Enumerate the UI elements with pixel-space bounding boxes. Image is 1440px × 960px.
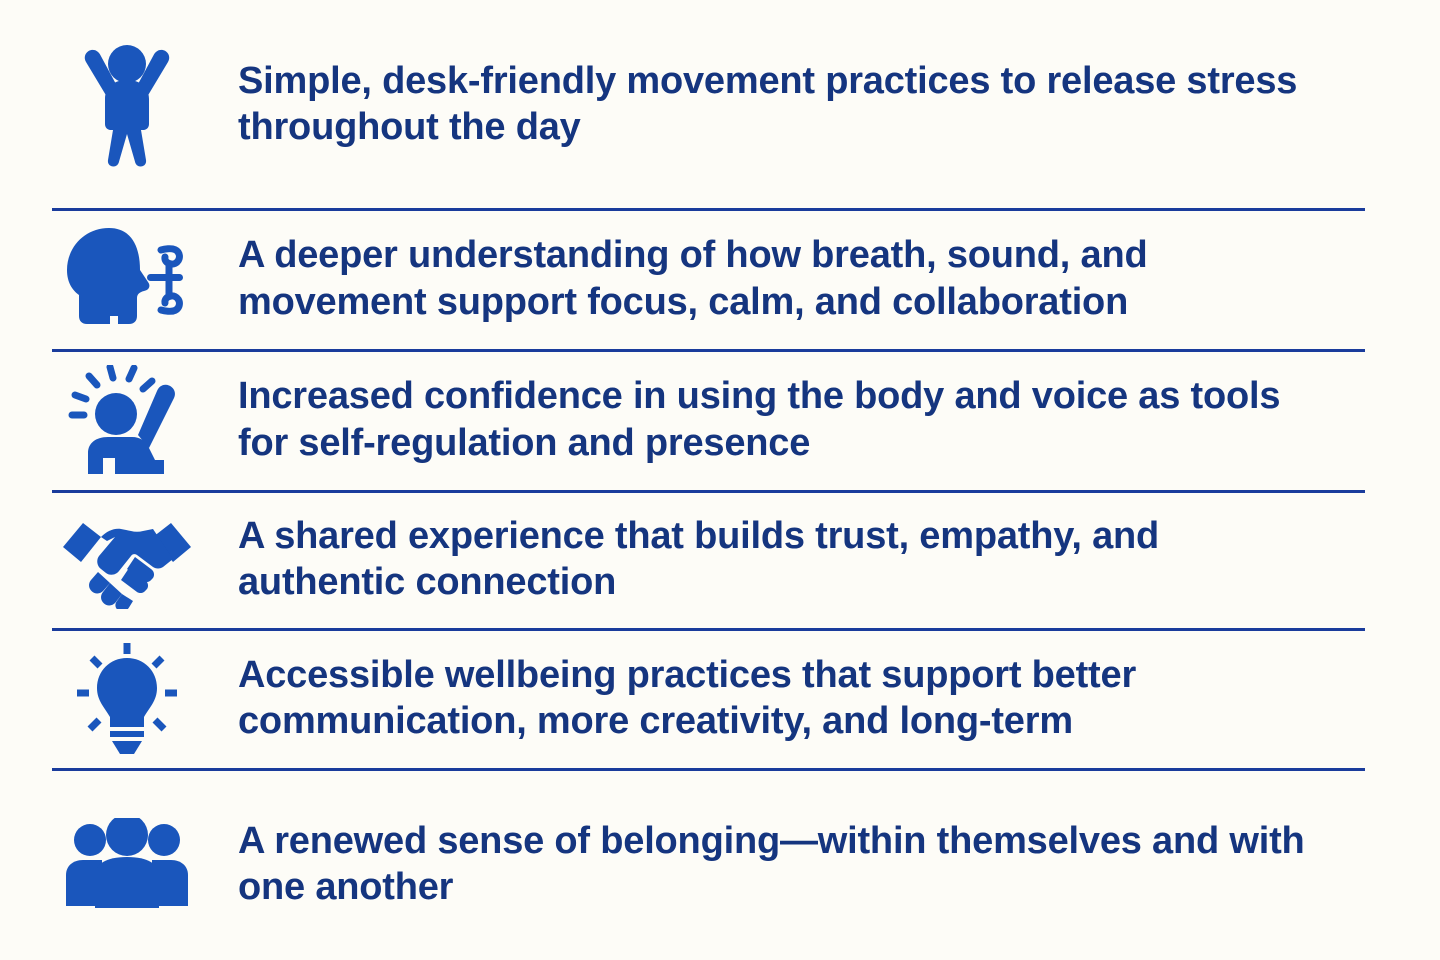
head-breathing-icon [52,224,202,334]
benefit-row: Increased confidence in using the body a… [0,349,1440,490]
benefit-row: Simple, desk-friendly movement practices… [0,0,1440,208]
person-raised-hand-confidence-icon [52,365,202,475]
person-arms-raised-icon [52,42,202,167]
handshake-icon [52,509,202,609]
benefit-text: A shared experience that builds trust, e… [202,513,1318,606]
lightbulb-icon [52,641,202,756]
benefit-row: A renewed sense of belonging—within them… [0,768,1440,960]
group-people-icon [52,818,202,910]
benefit-text: Simple, desk-friendly movement practices… [202,58,1318,151]
benefits-list: Simple, desk-friendly movement practices… [0,0,1440,960]
benefit-text: Accessible wellbeing practices that supp… [202,652,1318,745]
benefit-text: Increased confidence in using the body a… [202,373,1318,466]
benefit-row: A shared experience that builds trust, e… [0,490,1440,628]
benefit-row: A deeper understanding of how breath, so… [0,208,1440,349]
benefit-row: Accessible wellbeing practices that supp… [0,628,1440,768]
benefit-text: A deeper understanding of how breath, so… [202,232,1318,325]
benefit-text: A renewed sense of belonging—within them… [202,818,1318,911]
